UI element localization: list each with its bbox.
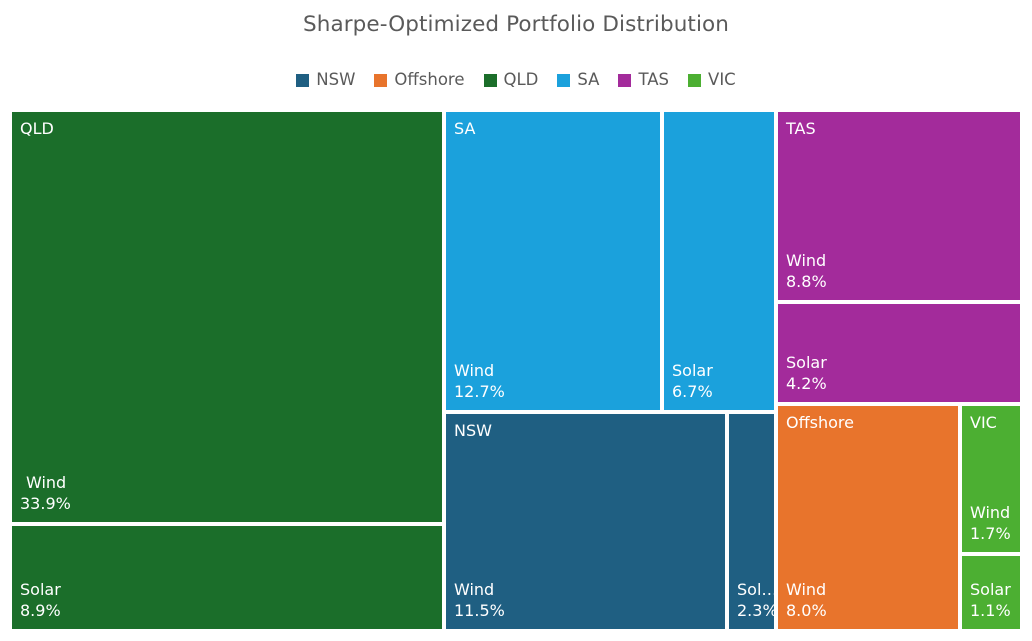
- treemap-tile-label-nsw-solar: Sol… 2.3%: [737, 580, 774, 621]
- legend-swatch-offshore: [374, 74, 387, 87]
- treemap-tile-qld-solar[interactable]: Solar 8.9%: [12, 526, 442, 629]
- legend-swatch-tas: [618, 74, 631, 87]
- treemap-tile-label-sa-solar: Solar 6.7%: [672, 361, 713, 402]
- leaf-value: 8.9%: [20, 601, 61, 621]
- legend-item-offshore[interactable]: Offshore: [374, 72, 464, 89]
- treemap-tile-label-tas-wind: Wind 8.8%: [786, 251, 827, 292]
- leaf-value: 6.7%: [672, 382, 713, 402]
- treemap-group-label-vic: VIC: [970, 414, 997, 432]
- legend-swatch-vic: [688, 74, 701, 87]
- leaf-value: 33.9%: [20, 494, 71, 514]
- leaf-value: 1.7%: [970, 524, 1011, 544]
- treemap-group-label-qld: QLD: [20, 120, 54, 138]
- leaf-value: 1.1%: [970, 601, 1011, 621]
- legend-label-nsw: NSW: [316, 72, 355, 89]
- leaf-name: Sol…: [737, 580, 774, 600]
- treemap-figure: Sharpe-Optimized Portfolio Distribution …: [0, 0, 1032, 641]
- treemap-tile-label-sa-wind: Wind 12.7%: [454, 361, 505, 402]
- treemap-group-label-sa: SA: [454, 120, 475, 138]
- leaf-name: Wind: [454, 361, 505, 381]
- leaf-value: 2.3%: [737, 601, 774, 621]
- legend: NSW Offshore QLD SA TAS VIC: [0, 72, 1032, 89]
- legend-item-tas[interactable]: TAS: [618, 72, 669, 89]
- legend-item-sa[interactable]: SA: [557, 72, 599, 89]
- leaf-value: 8.0%: [786, 601, 827, 621]
- treemap-tile-label-tas-solar: Solar 4.2%: [786, 353, 827, 394]
- legend-swatch-qld: [484, 74, 497, 87]
- legend-item-vic[interactable]: VIC: [688, 72, 736, 89]
- treemap-tile-label-qld-wind: Wind 33.9%: [26, 473, 71, 514]
- leaf-name: Wind: [454, 580, 505, 600]
- page-title: Sharpe-Optimized Portfolio Distribution: [0, 12, 1032, 37]
- leaf-name: Wind: [786, 580, 827, 600]
- treemap-tile-vic-solar[interactable]: Solar1.1%: [962, 556, 1020, 629]
- legend-item-qld[interactable]: QLD: [484, 72, 539, 89]
- legend-item-nsw[interactable]: NSW: [296, 72, 355, 89]
- legend-swatch-sa: [557, 74, 570, 87]
- leaf-value: 4.2%: [786, 374, 827, 394]
- treemap-tile-label-qld-solar: Solar 8.9%: [20, 580, 61, 621]
- treemap-plot-area: QLD Wind 33.9% Solar 8.9% SA Wind 12.7% …: [12, 112, 1020, 629]
- treemap-tile-nsw-solar[interactable]: Sol… 2.3%: [729, 414, 774, 629]
- legend-label-qld: QLD: [504, 72, 539, 89]
- legend-label-offshore: Offshore: [394, 72, 464, 89]
- legend-label-vic: VIC: [708, 72, 736, 89]
- treemap-tile-label-offshore-wind: Wind 8.0%: [786, 580, 827, 621]
- treemap-tile-qld-wind[interactable]: QLD Wind 33.9%: [12, 112, 442, 522]
- leaf-value: 11.5%: [454, 601, 505, 621]
- treemap-tile-nsw-wind[interactable]: NSW Wind 11.5%: [446, 414, 725, 629]
- treemap-group-label-tas: TAS: [786, 120, 816, 138]
- leaf-name: Wind: [786, 251, 827, 271]
- treemap-tile-sa-solar[interactable]: Solar 6.7%: [664, 112, 774, 410]
- treemap-group-label-offshore: Offshore: [786, 414, 854, 432]
- leaf-name: Solar: [672, 361, 713, 381]
- leaf-name: Solar: [20, 580, 61, 600]
- leaf-value: 12.7%: [454, 382, 505, 402]
- leaf-name: Wind: [26, 473, 71, 493]
- legend-label-sa: SA: [577, 72, 599, 89]
- treemap-tile-label-vic-wind: Wind 1.7%: [970, 503, 1011, 544]
- treemap-tile-tas-solar[interactable]: Solar 4.2%: [778, 304, 1020, 402]
- treemap-tile-tas-wind[interactable]: TAS Wind 8.8%: [778, 112, 1020, 300]
- treemap-tile-label-vic-solar: Solar1.1%: [970, 580, 1011, 621]
- legend-label-tas: TAS: [638, 72, 669, 89]
- leaf-name: Solar: [786, 353, 827, 373]
- leaf-name: Solar: [970, 580, 1011, 600]
- treemap-tile-offshore-wind[interactable]: Offshore Wind 8.0%: [778, 406, 958, 629]
- treemap-tile-sa-wind[interactable]: SA Wind 12.7%: [446, 112, 660, 410]
- treemap-tile-vic-wind[interactable]: VIC Wind 1.7%: [962, 406, 1020, 552]
- treemap-group-label-nsw: NSW: [454, 422, 492, 440]
- treemap-tile-label-nsw-wind: Wind 11.5%: [454, 580, 505, 621]
- leaf-value: 8.8%: [786, 272, 827, 292]
- leaf-name: Wind: [970, 503, 1011, 523]
- legend-swatch-nsw: [296, 74, 309, 87]
